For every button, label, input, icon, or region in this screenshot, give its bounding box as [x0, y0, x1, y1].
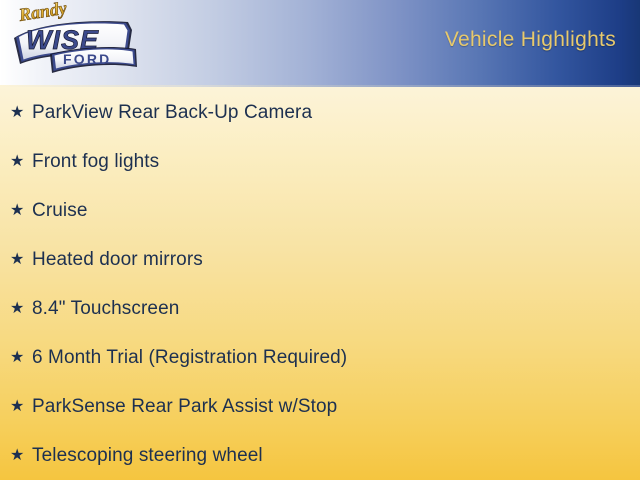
list-item: ★ Cruise — [0, 186, 640, 235]
star-icon: ★ — [8, 399, 32, 415]
list-item-label: 6 Month Trial (Registration Required) — [32, 347, 347, 369]
vehicle-highlights-slide: WISE Randy FORD Vehicle Highlights ★ Par… — [0, 0, 640, 480]
svg-text:Randy: Randy — [17, 2, 70, 25]
list-item-label: Heated door mirrors — [32, 249, 203, 271]
list-item-label: ParkView Rear Back-Up Camera — [32, 102, 312, 124]
list-item-label: Front fog lights — [32, 151, 159, 173]
list-item-label: 8.4" Touchscreen — [32, 298, 179, 320]
star-icon: ★ — [8, 105, 32, 121]
page-title: Vehicle Highlights — [445, 28, 616, 52]
list-item: ★ 8.4" Touchscreen — [0, 284, 640, 333]
dealer-logo: WISE Randy FORD — [6, 2, 141, 82]
star-icon: ★ — [8, 301, 32, 317]
star-icon: ★ — [8, 203, 32, 219]
header-divider — [0, 85, 640, 87]
svg-text:FORD: FORD — [63, 51, 111, 67]
star-icon: ★ — [8, 154, 32, 170]
header-bar: WISE Randy FORD Vehicle Highlights — [0, 0, 640, 85]
star-icon: ★ — [8, 448, 32, 464]
list-item-label: Cruise — [32, 200, 88, 222]
list-item-label: ParkSense Rear Park Assist w/Stop — [32, 396, 337, 418]
star-icon: ★ — [8, 350, 32, 366]
list-item: ★ ParkView Rear Back-Up Camera — [0, 88, 640, 137]
list-item-label: Telescoping steering wheel — [32, 445, 263, 467]
list-item: ★ Front fog lights — [0, 137, 640, 186]
list-item: ★ ParkSense Rear Park Assist w/Stop — [0, 382, 640, 431]
list-item: ★ Heated door mirrors — [0, 235, 640, 284]
star-icon: ★ — [8, 252, 32, 268]
vehicle-highlights-list: ★ ParkView Rear Back-Up Camera ★ Front f… — [0, 88, 640, 480]
randy-wise-ford-logo-icon: WISE Randy FORD — [6, 2, 141, 82]
list-item: ★ 6 Month Trial (Registration Required) — [0, 333, 640, 382]
list-item: ★ Telescoping steering wheel — [0, 431, 640, 480]
